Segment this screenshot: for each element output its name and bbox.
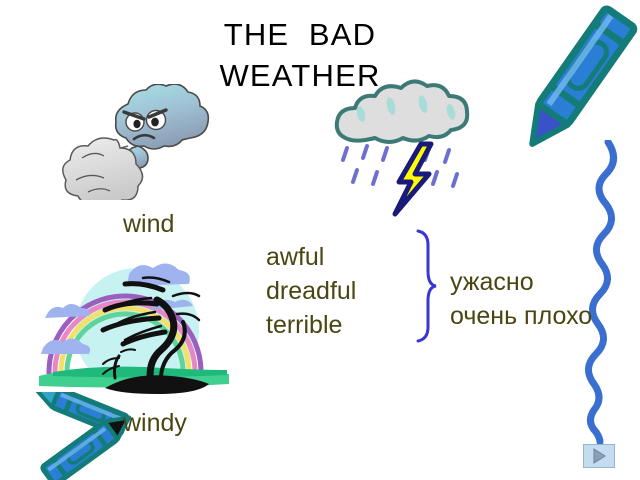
english-word-awful: awful xyxy=(266,240,356,274)
russian-word-uzhasno: ужасно xyxy=(450,265,592,299)
play-triangle-icon xyxy=(584,445,614,467)
rain-cloud-lightning-icon xyxy=(325,78,495,218)
curly-brace-icon xyxy=(412,229,442,343)
next-slide-button[interactable] xyxy=(583,444,615,468)
windy-tree-rainbow-icon xyxy=(33,252,233,407)
slide-canvas: THE BAD WEATHER xyxy=(0,0,640,480)
russian-word-ochen-plokho: очень плохо xyxy=(450,299,592,333)
label-wind: wind xyxy=(123,207,174,241)
russian-translation-list: ужасно очень плохо xyxy=(450,265,592,333)
label-windy: windy xyxy=(123,406,187,440)
angry-wind-cloud-icon xyxy=(62,84,222,200)
english-word-terrible: terrible xyxy=(266,308,356,342)
english-synonym-list: awful dreadful terrible xyxy=(266,240,356,342)
english-word-dreadful: dreadful xyxy=(266,274,356,308)
